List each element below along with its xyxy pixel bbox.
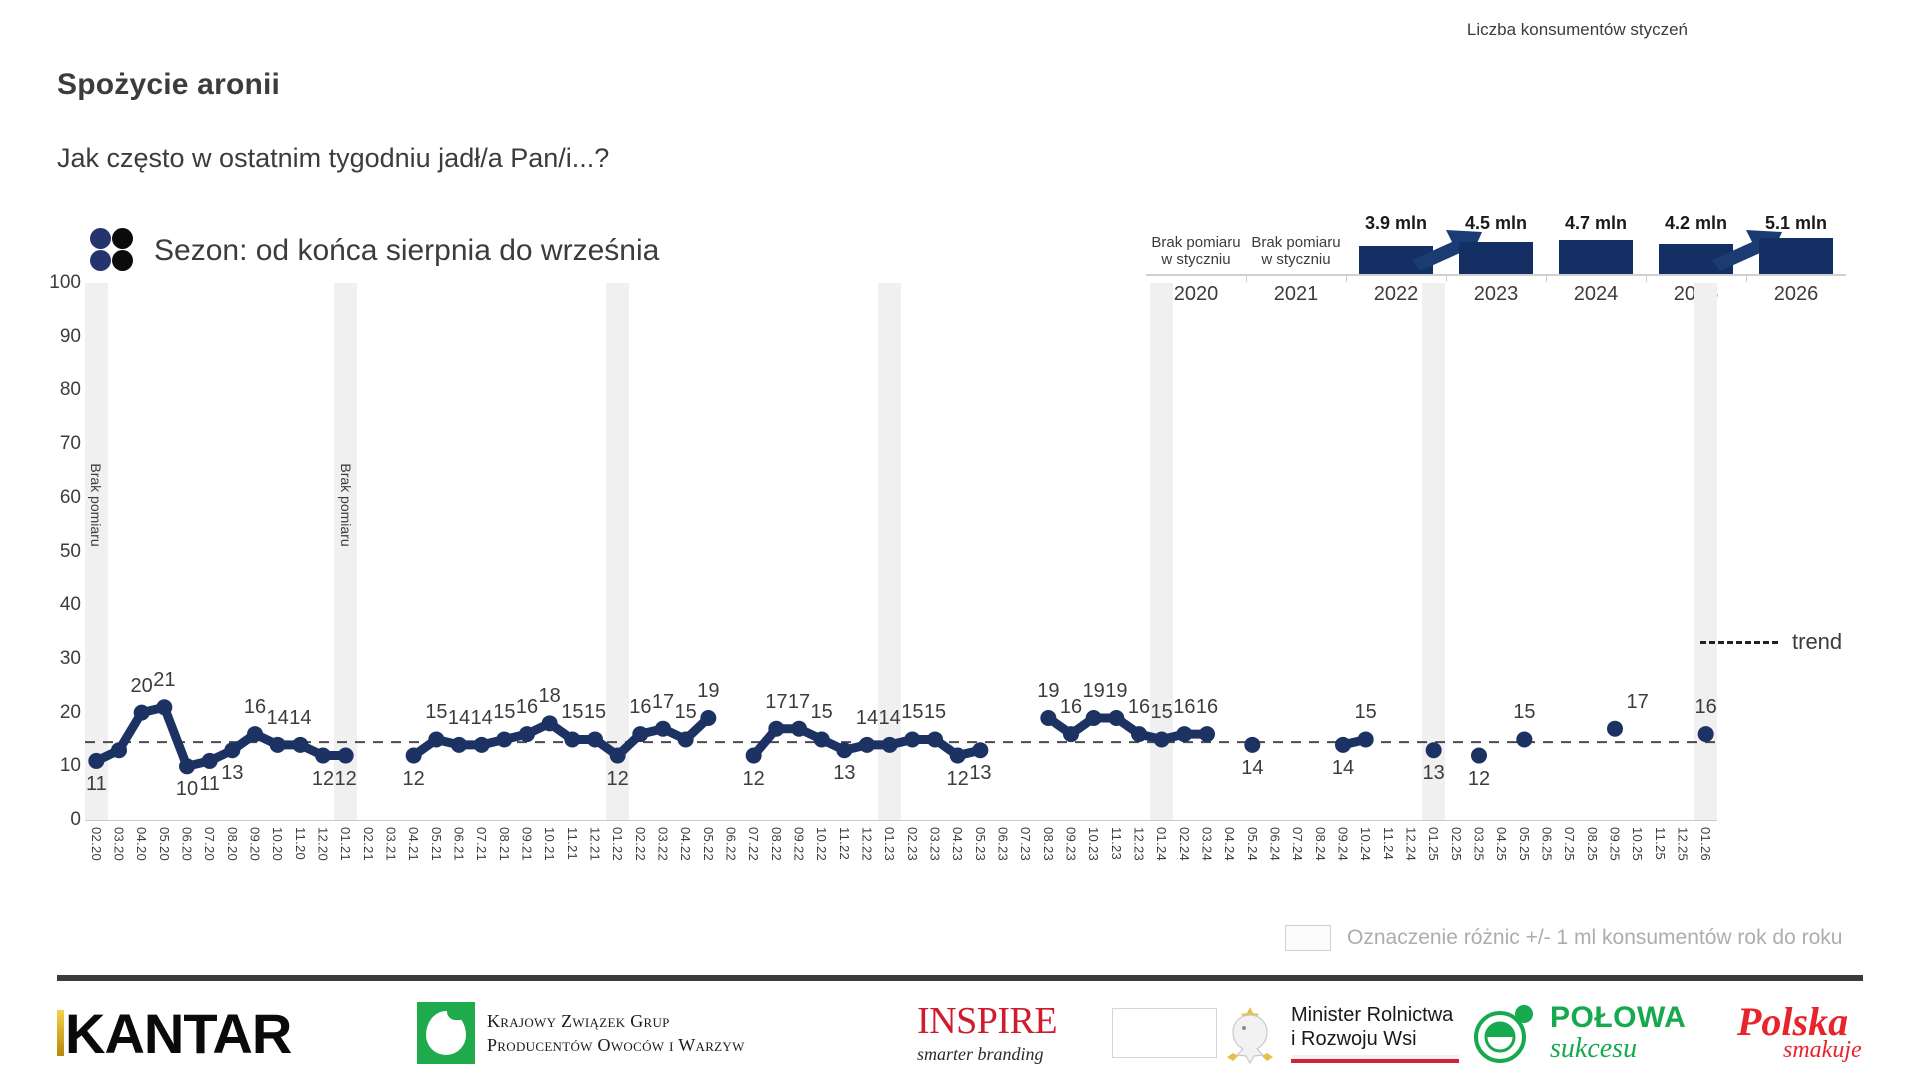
data-point-label: 13 xyxy=(969,762,991,785)
no-measurement-note: Brak pomiaruw styczniu xyxy=(1242,234,1350,269)
x-axis-tick-label: 03.24 xyxy=(1200,827,1215,861)
x-axis-tick-label: 06.22 xyxy=(724,827,739,861)
data-point-label: 12 xyxy=(947,768,969,791)
y-axis-tick-label: 30 xyxy=(41,648,81,670)
x-axis-tick-label: 02.21 xyxy=(361,827,376,861)
data-point xyxy=(1108,710,1124,726)
data-point-label: 15 xyxy=(675,701,697,724)
data-point xyxy=(1244,737,1260,753)
x-axis-tick-label: 10.21 xyxy=(542,827,557,861)
data-point-label: 14 xyxy=(879,707,901,730)
data-point xyxy=(678,731,694,747)
data-point xyxy=(451,737,467,753)
x-axis-tick-label: 11.24 xyxy=(1381,827,1396,860)
x-axis-tick-label: 12.23 xyxy=(1132,827,1147,861)
x-axis-tick-label: 07.22 xyxy=(746,827,761,861)
x-axis-tick-label: 04.23 xyxy=(950,827,965,861)
x-axis-tick-label: 05.21 xyxy=(429,827,444,861)
data-point xyxy=(292,737,308,753)
x-axis-tick-label: 04.24 xyxy=(1222,827,1237,861)
kzg-apple-icon xyxy=(417,1002,475,1064)
data-point xyxy=(882,737,898,753)
data-point-label: 11 xyxy=(199,773,220,796)
x-axis-tick-label: 05.25 xyxy=(1517,827,1532,861)
data-point-label: 16 xyxy=(1060,696,1082,719)
data-point xyxy=(746,748,762,764)
y-axis-tick-label: 40 xyxy=(41,594,81,616)
data-point-label: 19 xyxy=(697,680,719,703)
data-point xyxy=(1426,742,1442,758)
data-point-label: 15 xyxy=(425,701,447,724)
x-axis-tick-label: 12.22 xyxy=(860,827,875,861)
polska-line2: smakuje xyxy=(1783,1037,1862,1064)
x-axis-tick-label: 01.25 xyxy=(1426,827,1441,861)
data-point xyxy=(224,742,240,758)
x-axis-tick-label: 04.22 xyxy=(678,827,693,861)
x-axis-tick-label: 07.20 xyxy=(202,827,217,861)
x-axis-tick-label: 07.23 xyxy=(1018,827,1033,861)
data-point-label: 17 xyxy=(1627,691,1649,714)
difference-swatch-icon xyxy=(1285,925,1331,951)
data-point-label: 14 xyxy=(267,707,289,730)
x-axis-tick-label: 11.25 xyxy=(1653,827,1668,860)
x-axis-tick-label: 03.23 xyxy=(928,827,943,861)
y-axis-tick-label: 20 xyxy=(41,702,81,724)
x-axis-tick-label: 12.21 xyxy=(588,827,603,861)
x-axis-tick-label: 07.24 xyxy=(1290,827,1305,861)
polowa-line1: POŁOWA xyxy=(1550,1003,1686,1033)
inspire-tagline: smarter branding xyxy=(917,1044,1044,1065)
data-point xyxy=(428,731,444,747)
consumers-axis-tick xyxy=(1246,274,1247,282)
x-axis-tick-label: 06.25 xyxy=(1540,827,1555,861)
data-point xyxy=(202,753,218,769)
x-axis-tick-label: 06.24 xyxy=(1268,827,1283,861)
x-axis-tick-label: 01.23 xyxy=(882,827,897,861)
data-point xyxy=(179,758,195,774)
x-axis-tick-label: 09.20 xyxy=(248,827,263,861)
x-axis-tick-label: 09.25 xyxy=(1608,827,1623,861)
data-point-label: 15 xyxy=(493,701,515,724)
data-point xyxy=(1335,737,1351,753)
difference-legend: Oznaczenie różnic +/- 1 ml konsumentów r… xyxy=(1285,925,1842,951)
data-point xyxy=(587,731,603,747)
x-axis-tick-label: 09.24 xyxy=(1336,827,1351,861)
polowa-line2: sukcesu xyxy=(1550,1035,1686,1063)
y-axis-tick-label: 80 xyxy=(41,379,81,401)
data-point xyxy=(1607,721,1623,737)
data-point xyxy=(927,731,943,747)
data-point xyxy=(270,737,286,753)
data-point xyxy=(836,742,852,758)
consumers-axis-tick xyxy=(1546,274,1547,282)
x-axis-tick-label: 10.20 xyxy=(270,827,285,861)
data-point-label: 17 xyxy=(652,691,674,714)
series-canvas xyxy=(85,283,1717,820)
kantar-accent-bar xyxy=(57,1010,64,1056)
data-point-label: 14 xyxy=(1241,757,1263,780)
data-point-label: 17 xyxy=(788,691,810,714)
x-axis-tick-label: 08.23 xyxy=(1041,827,1056,861)
data-point xyxy=(315,748,331,764)
data-point xyxy=(972,742,988,758)
kantar-logo: KANTAR xyxy=(57,996,291,1070)
data-point xyxy=(88,753,104,769)
consumers-value-label: 5.1 mln xyxy=(1746,213,1846,234)
x-axis-tick-label: 09.23 xyxy=(1064,827,1079,861)
x-axis-tick-label: 08.24 xyxy=(1313,827,1328,861)
inspire-wordmark: INSPIRE xyxy=(917,1002,1057,1040)
data-point xyxy=(1086,710,1102,726)
data-point-label: 19 xyxy=(1105,680,1127,703)
minister-flag-bars xyxy=(1291,1055,1459,1063)
data-point-label: 14 xyxy=(856,707,878,730)
data-point xyxy=(564,731,580,747)
consumers-axis-tick xyxy=(1446,274,1447,282)
data-point-label: 10 xyxy=(176,778,198,801)
footer-divider xyxy=(57,975,1863,981)
x-axis-tick-label: 03.22 xyxy=(656,827,671,861)
consumers-axis-tick xyxy=(1746,274,1747,282)
data-point xyxy=(1516,731,1532,747)
x-axis-tick-label: 06.23 xyxy=(996,827,1011,861)
x-axis-tick-label: 04.20 xyxy=(134,827,149,861)
data-point xyxy=(1131,726,1147,742)
data-point xyxy=(768,721,784,737)
x-axis-tick-label: 08.20 xyxy=(225,827,240,861)
data-point-label: 15 xyxy=(1355,701,1377,724)
y-axis-tick-label: 10 xyxy=(41,755,81,777)
data-point-label: 15 xyxy=(901,701,923,724)
trend-legend-label: trend xyxy=(1792,629,1842,655)
data-point xyxy=(406,748,422,764)
data-point-label: 14 xyxy=(289,707,311,730)
data-point xyxy=(700,710,716,726)
data-point-label: 16 xyxy=(629,696,651,719)
data-point-label: 12 xyxy=(312,768,334,791)
kzg-line1: Krajowy Związek Grup xyxy=(487,1009,745,1033)
x-axis-tick-label: 05.20 xyxy=(157,827,172,861)
data-point xyxy=(655,721,671,737)
x-axis-tick-label: 08.22 xyxy=(769,827,784,861)
data-point xyxy=(474,737,490,753)
x-axis-tick-label: 12.24 xyxy=(1404,827,1419,861)
consumers-axis-tick xyxy=(1646,274,1647,282)
data-point-label: 16 xyxy=(1196,696,1218,719)
season-note: Sezon: od końca sierpnia do września xyxy=(90,228,659,274)
x-axis-tick-label: 09.21 xyxy=(520,827,535,861)
x-axis-tick-label: 06.21 xyxy=(452,827,467,861)
x-axis-tick-label: 11.23 xyxy=(1109,827,1124,860)
x-axis-tick-label: 12.20 xyxy=(316,827,331,861)
data-point-label: 16 xyxy=(1128,696,1150,719)
consumption-line-chart: Brak pomiaruBrak pomiaru1120211011131614… xyxy=(57,283,1847,848)
data-point xyxy=(610,748,626,764)
data-point-label: 15 xyxy=(584,701,606,724)
data-point-label: 14 xyxy=(471,707,493,730)
consumers-value-label: 4.5 mln xyxy=(1446,213,1546,234)
inspire-logo: INSPIRE smarter branding xyxy=(917,996,1057,1070)
data-point-label: 14 xyxy=(1332,757,1354,780)
x-axis-tick-label: 02.24 xyxy=(1177,827,1192,861)
x-axis-tick-label: 02.23 xyxy=(905,827,920,861)
data-point xyxy=(814,731,830,747)
data-point xyxy=(156,699,172,715)
x-axis-tick-label: 01.24 xyxy=(1154,827,1169,861)
data-point xyxy=(1199,726,1215,742)
data-point xyxy=(1471,748,1487,764)
x-axis-tick-label: 03.25 xyxy=(1472,827,1487,861)
polska-line1: Polska xyxy=(1737,1003,1848,1041)
no-measurement-note: Brak pomiaruw styczniu xyxy=(1142,234,1250,269)
data-point-label: 17 xyxy=(765,691,787,714)
page-title: Spożycie aronii xyxy=(57,68,280,102)
y-axis-tick-label: 50 xyxy=(41,541,81,563)
x-axis-tick-label: 01.21 xyxy=(338,827,353,861)
data-point xyxy=(1063,726,1079,742)
y-axis-tick-label: 100 xyxy=(41,272,81,294)
data-point xyxy=(1040,710,1056,726)
data-point-label: 19 xyxy=(1083,680,1105,703)
x-axis-tick-label: 07.25 xyxy=(1562,827,1577,861)
consumers-bar xyxy=(1559,240,1633,274)
x-axis-tick-label: 04.25 xyxy=(1494,827,1509,861)
x-axis-tick-label: 04.21 xyxy=(406,827,421,861)
data-point xyxy=(632,726,648,742)
data-point xyxy=(1176,726,1192,742)
four-dots-icon xyxy=(90,228,136,274)
x-axis-tick-label: 01.26 xyxy=(1698,827,1713,861)
kzg-line2: Producentów Owoców i Warzyw xyxy=(487,1033,745,1057)
x-axis-tick-label: 09.22 xyxy=(792,827,807,861)
data-point-label: 12 xyxy=(403,768,425,791)
minister-line1: Minister Rolnictwa xyxy=(1291,1003,1459,1027)
data-point-label: 16 xyxy=(244,696,266,719)
data-point-label: 12 xyxy=(743,768,765,791)
data-point xyxy=(134,705,150,721)
x-axis-line xyxy=(85,820,1717,821)
minister-line2: i Rozwoju Wsi xyxy=(1291,1027,1459,1051)
x-axis-tick-label: 10.22 xyxy=(814,827,829,861)
x-axis-tick-label: 02.20 xyxy=(89,827,104,861)
kantar-wordmark: KANTAR xyxy=(65,1001,291,1066)
data-point xyxy=(519,726,535,742)
x-axis-tick-label: 05.24 xyxy=(1245,827,1260,861)
x-axis-tick-label: 07.21 xyxy=(474,827,489,861)
polish-eagle-icon xyxy=(1219,1001,1281,1065)
polowa-circle-icon xyxy=(1472,1001,1536,1065)
data-point-label: 21 xyxy=(153,669,175,692)
x-axis-tick-label: 01.22 xyxy=(610,827,625,861)
x-axis-tick-label: 06.20 xyxy=(180,827,195,861)
data-point-label: 15 xyxy=(561,701,583,724)
x-axis-tick-label: 03.20 xyxy=(112,827,127,861)
data-point xyxy=(791,721,807,737)
x-axis-tick-label: 08.25 xyxy=(1585,827,1600,861)
data-point-label: 20 xyxy=(131,675,153,698)
x-axis-tick-label: 05.22 xyxy=(701,827,716,861)
consumers-bar xyxy=(1459,242,1533,274)
y-axis-tick-label: 60 xyxy=(41,487,81,509)
data-point xyxy=(904,731,920,747)
data-point-label: 14 xyxy=(448,707,470,730)
x-axis-tick-label: 10.24 xyxy=(1358,827,1373,861)
x-axis-tick-label: 11.20 xyxy=(293,827,308,860)
x-axis-tick-label: 08.21 xyxy=(497,827,512,861)
consumers-axis-tick xyxy=(1346,274,1347,282)
data-point-label: 12 xyxy=(607,768,629,791)
data-point-label: 15 xyxy=(924,701,946,724)
data-point-label: 13 xyxy=(833,762,855,785)
x-axis-tick-label: 05.23 xyxy=(973,827,988,861)
data-point-label: 15 xyxy=(811,701,833,724)
data-point xyxy=(542,715,558,731)
y-axis-tick-label: 0 xyxy=(41,809,81,831)
data-point-label: 16 xyxy=(1173,696,1195,719)
survey-question: Jak często w ostatnim tygodniu jadł/a Pa… xyxy=(57,143,609,174)
difference-legend-label: Oznaczenie różnic +/- 1 ml konsumentów r… xyxy=(1347,926,1842,950)
x-axis-tick-label: 11.22 xyxy=(837,827,852,860)
minister-placeholder-box xyxy=(1112,1008,1217,1058)
kzg-logo: Krajowy Związek Grup Producentów Owoców … xyxy=(417,996,745,1070)
data-point xyxy=(496,731,512,747)
data-point xyxy=(247,726,263,742)
data-point-label: 13 xyxy=(221,762,243,785)
x-axis-tick-label: 03.21 xyxy=(384,827,399,861)
data-point xyxy=(1358,731,1374,747)
data-point xyxy=(859,737,875,753)
data-point-label: 15 xyxy=(1513,701,1535,724)
data-point xyxy=(950,748,966,764)
data-point-label: 15 xyxy=(1151,701,1173,724)
y-axis-tick-label: 70 xyxy=(41,433,81,455)
data-point-label: 12 xyxy=(1468,768,1490,791)
data-point xyxy=(338,748,354,764)
consumers-bar xyxy=(1759,238,1833,274)
data-point xyxy=(1154,731,1170,747)
data-point-label: 16 xyxy=(1695,696,1717,719)
polowa-sukcesu-logo: POŁOWA sukcesu xyxy=(1472,996,1686,1070)
season-label: Sezon: od końca sierpnia do września xyxy=(154,234,659,268)
y-axis-tick-label: 90 xyxy=(41,326,81,348)
x-axis-tick-label: 10.23 xyxy=(1086,827,1101,861)
data-point-label: 13 xyxy=(1423,762,1445,785)
consumers-caption: Liczba konsumentów styczeń xyxy=(1467,20,1688,40)
data-point-label: 18 xyxy=(539,685,561,708)
x-axis-tick-label: 02.25 xyxy=(1449,827,1464,861)
x-axis-tick-label: 10.25 xyxy=(1630,827,1645,861)
trend-dash-icon xyxy=(1700,641,1778,644)
trend-legend: trend xyxy=(1700,629,1842,655)
data-point xyxy=(1698,726,1714,742)
x-axis-tick-label: 02.22 xyxy=(633,827,648,861)
plot-area: Brak pomiaruBrak pomiaru1120211011131614… xyxy=(85,283,1717,820)
data-point xyxy=(111,742,127,758)
x-axis-tick-label: 12.25 xyxy=(1676,827,1691,861)
consumers-value-label: 4.7 mln xyxy=(1546,213,1646,234)
data-point-label: 16 xyxy=(516,696,538,719)
polska-smakuje-logo: Polska smakuje xyxy=(1737,996,1862,1070)
data-point-label: 12 xyxy=(335,768,357,791)
x-axis-tick-label: 11.21 xyxy=(565,827,580,860)
data-point-label: 11 xyxy=(86,773,107,796)
minister-logo: Minister Rolnictwa i Rozwoju Wsi xyxy=(1112,996,1459,1070)
data-point-label: 19 xyxy=(1037,680,1059,703)
partner-logos: KANTAR Krajowy Związek Grup Producentów … xyxy=(57,996,1863,1070)
